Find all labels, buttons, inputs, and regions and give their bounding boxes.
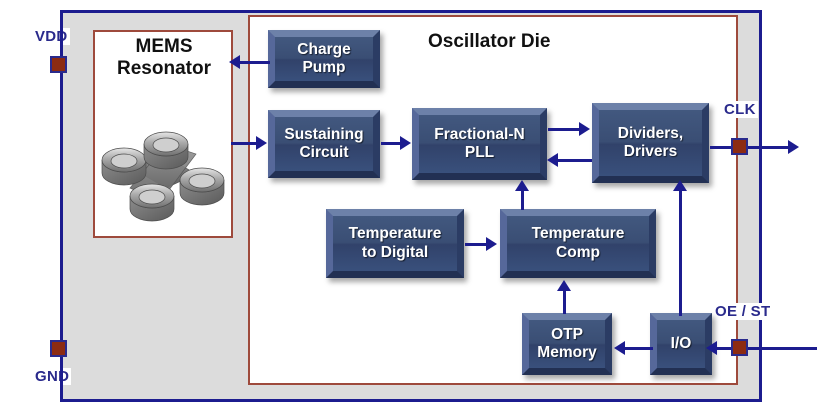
- pin-label-oe-st: OE / ST: [713, 303, 772, 320]
- pin-label-gnd: GND: [33, 368, 71, 385]
- mems-die-title: MEMS Resonator: [100, 36, 228, 81]
- pad-gnd[interactable]: [50, 340, 67, 357]
- pin-label-vdd: VDD: [33, 28, 70, 45]
- wire-tempcomp-to-pll: [521, 190, 524, 210]
- arrowhead-oest-to-io: [706, 341, 717, 355]
- wire-io-to-dividers: [679, 190, 682, 316]
- wire-dividers-to-pll: [558, 159, 592, 162]
- block-temperature-to-digital[interactable]: Temperatureto Digital: [326, 209, 464, 278]
- wire-oest-to-io: [712, 347, 817, 350]
- wire-chargepump-to-mems: [240, 61, 270, 64]
- arrowhead-otp-to-tempcomp: [557, 280, 571, 291]
- arrowhead-chargepump-to-mems: [229, 55, 240, 69]
- arrowhead-dividers-to-pll: [547, 153, 558, 167]
- arrowhead-sustaining-to-pll: [400, 136, 411, 150]
- arrowhead-clk-output: [788, 140, 799, 154]
- pin-label-clk: CLK: [722, 101, 758, 118]
- block-charge-pump[interactable]: ChargePump: [268, 30, 380, 88]
- block-fractional-n-pll[interactable]: Fractional-NPLL: [412, 108, 547, 180]
- block-diagram-canvas: MEMS Resonator Oscillator Die: [0, 0, 817, 413]
- pad-oe-st[interactable]: [731, 339, 748, 356]
- block-otp-memory[interactable]: OTPMemory: [522, 313, 612, 375]
- arrowhead-io-to-otp: [614, 341, 625, 355]
- pad-clk[interactable]: [731, 138, 748, 155]
- block-temperature-comp[interactable]: TemperatureComp: [500, 209, 656, 278]
- wire-io-to-otp: [625, 347, 653, 350]
- wire-mems-to-sustaining: [231, 142, 259, 145]
- block-dividers-drivers[interactable]: Dividers,Drivers: [592, 103, 709, 183]
- arrowhead-mems-to-sustaining: [256, 136, 267, 150]
- wire-pll-to-dividers: [548, 128, 582, 131]
- wire-otp-to-tempcomp: [563, 290, 566, 314]
- arrowhead-pll-to-dividers: [579, 122, 590, 136]
- wire-dividers-to-clk: [710, 146, 790, 149]
- arrowhead-io-to-dividers: [673, 180, 687, 191]
- block-sustaining-circuit[interactable]: SustainingCircuit: [268, 110, 380, 178]
- arrowhead-tempdigital-to-tempcomp: [486, 237, 497, 251]
- oscillator-die-title: Oscillator Die: [428, 31, 551, 53]
- mems-resonator-artwork: [96, 126, 228, 224]
- block-io[interactable]: I/O: [650, 313, 712, 375]
- pad-vdd[interactable]: [50, 56, 67, 73]
- arrowhead-tempcomp-to-pll: [515, 180, 529, 191]
